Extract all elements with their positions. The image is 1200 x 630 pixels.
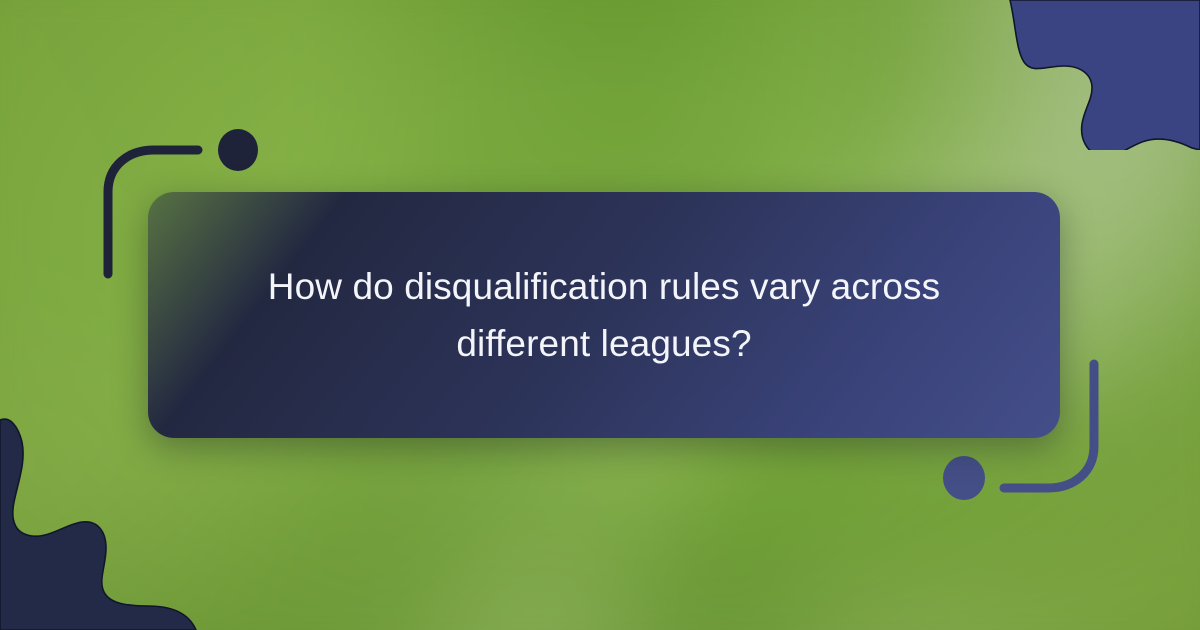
poster-canvas: How do disqualification rules vary acros… bbox=[0, 0, 1200, 630]
question-title: How do disqualification rules vary acros… bbox=[232, 258, 976, 373]
question-card: How do disqualification rules vary acros… bbox=[148, 192, 1060, 438]
